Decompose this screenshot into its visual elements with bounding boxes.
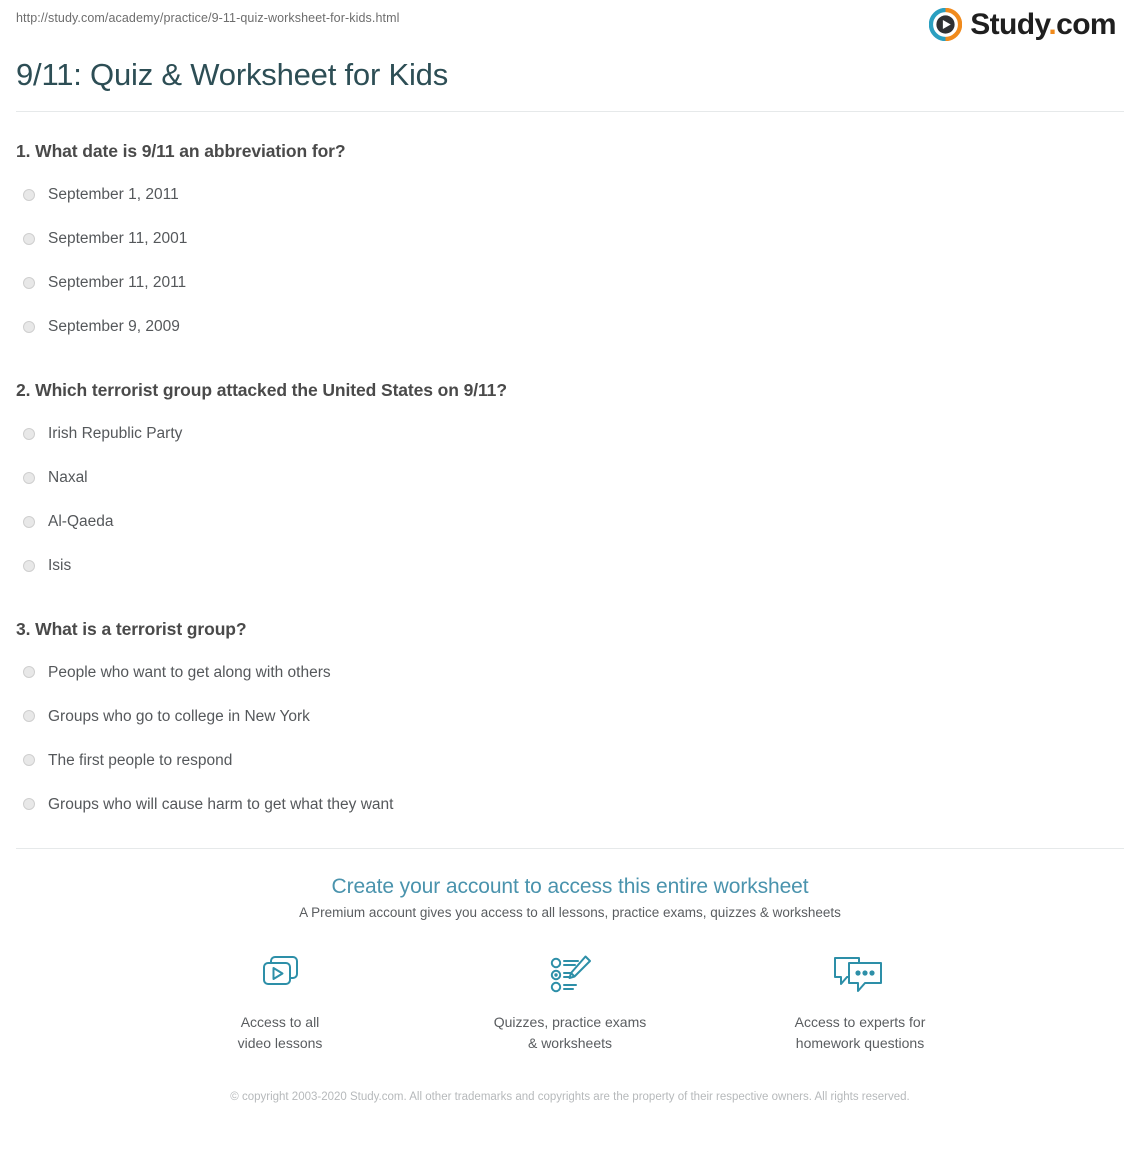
option-label: Groups who go to college in New York — [48, 709, 310, 725]
option-label: Naxal — [48, 470, 88, 486]
option-label: The first people to respond — [48, 753, 232, 769]
cta-subtitle: A Premium account gives you access to al… — [0, 905, 1140, 920]
question-block: 1. What date is 9/11 an abbreviation for… — [16, 112, 1124, 349]
radio-button-icon[interactable] — [23, 321, 35, 333]
logo-dot: . — [1048, 8, 1056, 41]
worksheet-page: http://study.com/academy/practice/9-11-q… — [0, 0, 1140, 1169]
option-row[interactable]: Groups who will cause harm to get what t… — [16, 782, 1124, 826]
feature-item: Quizzes, practice exams & worksheets — [490, 950, 650, 1053]
feature-item: Access to all video lessons — [200, 950, 360, 1053]
radio-button-icon[interactable] — [23, 560, 35, 572]
option-list: People who want to get along with others… — [16, 650, 1124, 826]
option-row[interactable]: September 11, 2011 — [16, 261, 1124, 305]
page-header: http://study.com/academy/practice/9-11-q… — [0, 0, 1140, 56]
radio-button-icon[interactable] — [23, 428, 35, 440]
question-block: 3. What is a terrorist group? People who… — [16, 588, 1124, 827]
feature-label: Quizzes, practice exams & worksheets — [490, 1012, 650, 1053]
speech-bubbles-icon — [780, 950, 940, 1002]
option-label: September 11, 2011 — [48, 275, 186, 291]
upsell-section: Create your account to access this entir… — [0, 849, 1140, 1106]
play-circle-icon — [929, 8, 962, 41]
cta-title[interactable]: Create your account to access this entir… — [0, 875, 1140, 899]
feature-label: Access to experts for homework questions — [780, 1012, 940, 1053]
quiz-checklist-pencil-icon — [490, 950, 650, 1002]
logo-brand-name: Study — [970, 8, 1048, 41]
option-row[interactable]: Irish Republic Party — [16, 412, 1124, 456]
option-label: September 1, 2011 — [48, 187, 179, 203]
option-label: Groups who will cause harm to get what t… — [48, 797, 393, 813]
question-text: 2. Which terrorist group attacked the Un… — [16, 379, 1124, 402]
option-label: September 11, 2001 — [48, 231, 187, 247]
quiz-container: 1. What date is 9/11 an abbreviation for… — [0, 112, 1140, 826]
option-list: September 1, 2011 September 11, 2001 Sep… — [16, 173, 1124, 349]
copyright-text: © copyright 2003-2020 Study.com. All oth… — [220, 1089, 920, 1107]
option-row[interactable]: September 9, 2009 — [16, 305, 1124, 349]
radio-button-icon[interactable] — [23, 754, 35, 766]
radio-button-icon[interactable] — [23, 472, 35, 484]
radio-button-icon[interactable] — [23, 277, 35, 289]
page-url: http://study.com/academy/practice/9-11-q… — [16, 11, 399, 25]
feature-list: Access to all video lessons — [0, 950, 1140, 1053]
question-text: 1. What date is 9/11 an abbreviation for… — [16, 140, 1124, 163]
option-row[interactable]: Groups who go to college in New York — [16, 694, 1124, 738]
option-row[interactable]: September 11, 2001 — [16, 217, 1124, 261]
option-label: September 9, 2009 — [48, 319, 180, 335]
question-text: 3. What is a terrorist group? — [16, 618, 1124, 641]
option-row[interactable]: September 1, 2011 — [16, 173, 1124, 217]
option-row[interactable]: The first people to respond — [16, 738, 1124, 782]
radio-button-icon[interactable] — [23, 189, 35, 201]
option-label: Isis — [48, 558, 71, 574]
radio-button-icon[interactable] — [23, 666, 35, 678]
video-lessons-icon — [200, 950, 360, 1002]
radio-button-icon[interactable] — [23, 233, 35, 245]
radio-button-icon[interactable] — [23, 516, 35, 528]
feature-label: Access to all video lessons — [200, 1012, 360, 1053]
option-row[interactable]: People who want to get along with others — [16, 650, 1124, 694]
option-row[interactable]: Al-Qaeda — [16, 500, 1124, 544]
question-block: 2. Which terrorist group attacked the Un… — [16, 349, 1124, 588]
radio-button-icon[interactable] — [23, 798, 35, 810]
page-title: 9/11: Quiz & Worksheet for Kids — [0, 56, 1140, 111]
option-list: Irish Republic Party Naxal Al-Qaeda Isis — [16, 412, 1124, 588]
logo-wordmark: Study.com — [970, 10, 1116, 40]
radio-button-icon[interactable] — [23, 710, 35, 722]
option-label: Irish Republic Party — [48, 426, 182, 442]
option-label: People who want to get along with others — [48, 665, 331, 681]
option-label: Al-Qaeda — [48, 514, 113, 530]
feature-item: Access to experts for homework questions — [780, 950, 940, 1053]
study-com-logo[interactable]: Study.com — [929, 8, 1116, 41]
option-row[interactable]: Isis — [16, 544, 1124, 588]
option-row[interactable]: Naxal — [16, 456, 1124, 500]
logo-tld: com — [1056, 8, 1116, 41]
